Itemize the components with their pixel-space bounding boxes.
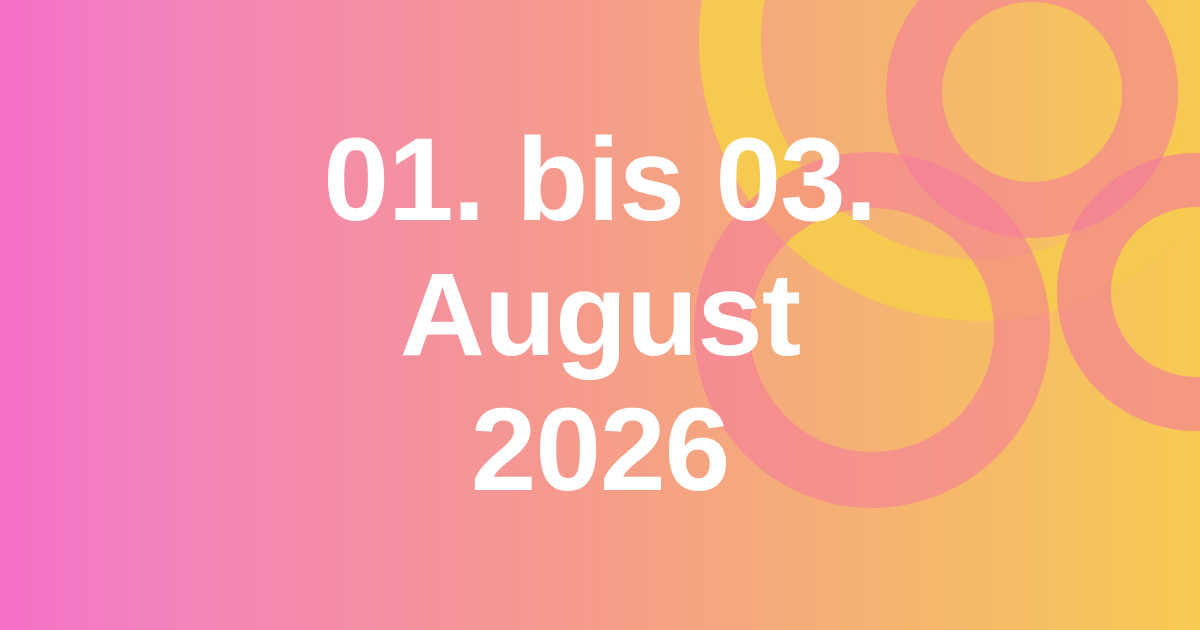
headline-block: 01. bis 03. August 2026 <box>0 0 1200 630</box>
event-date-banner: 01. bis 03. August 2026 <box>0 0 1200 630</box>
headline-line-1: 01. bis 03. <box>323 113 876 248</box>
headline-line-2: August <box>400 248 800 383</box>
headline-line-3: 2026 <box>471 383 730 518</box>
